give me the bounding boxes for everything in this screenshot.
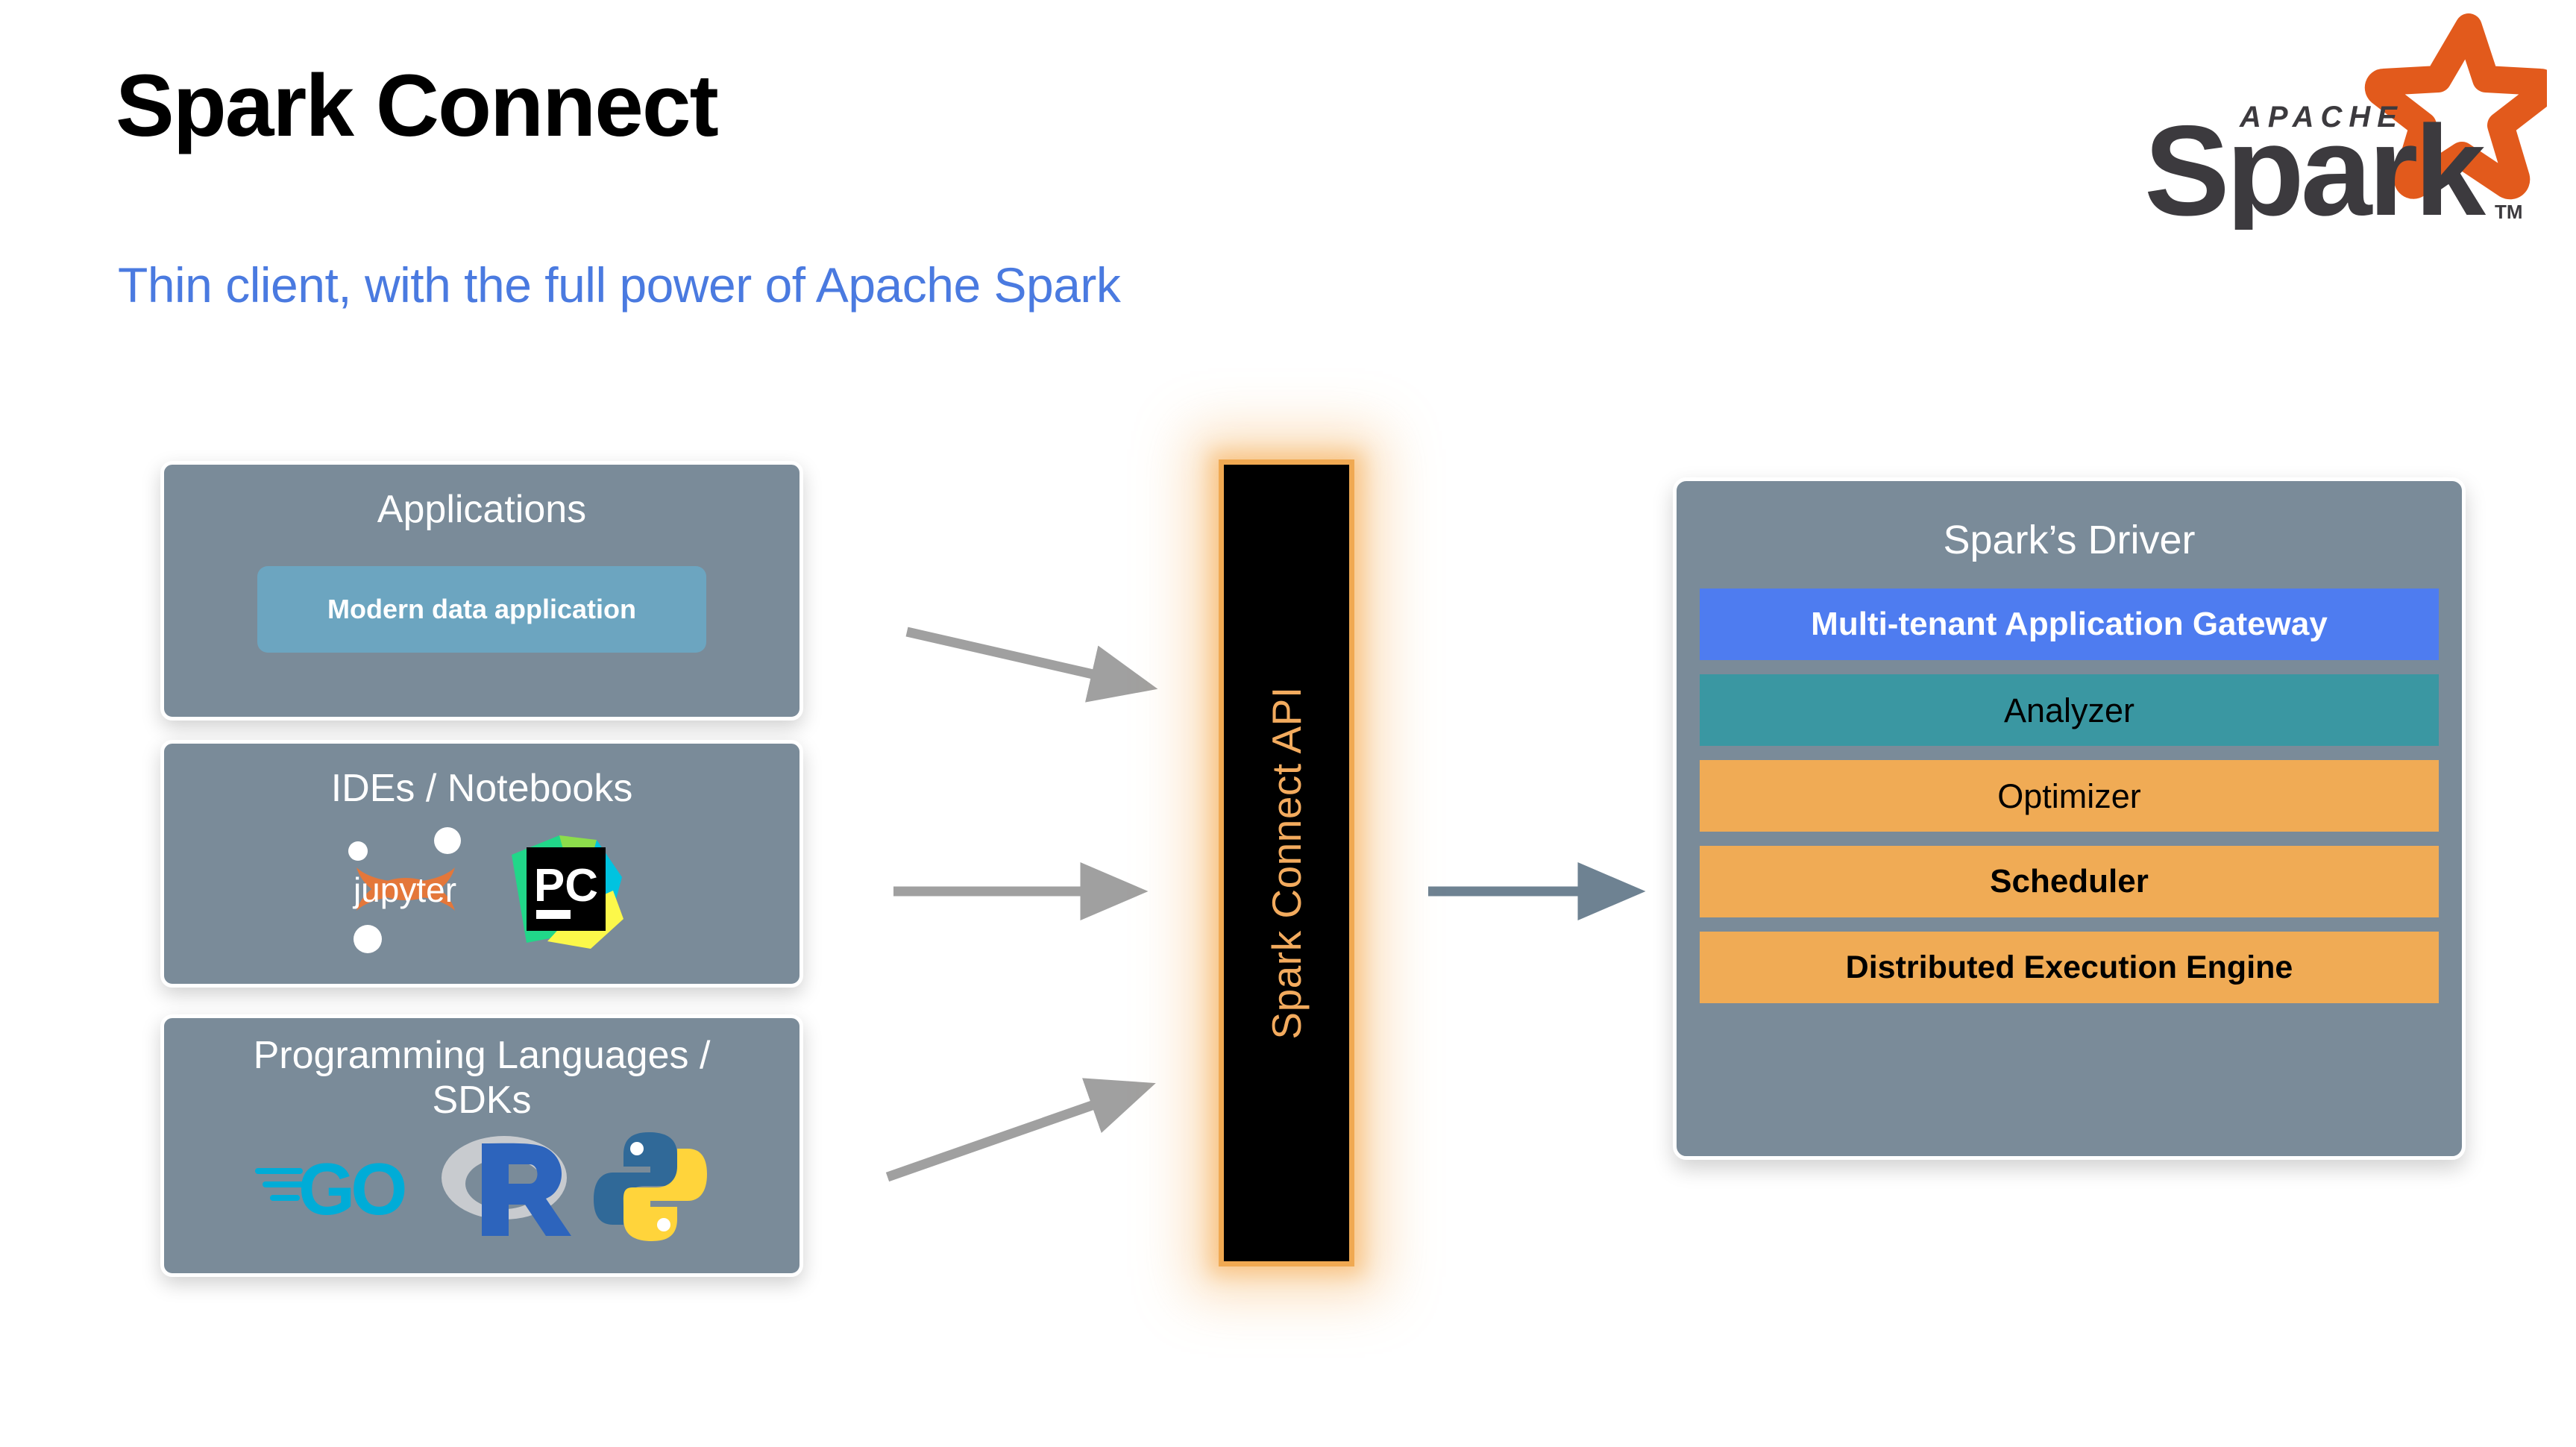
spark-connect-api-bar[interactable]: Spark Connect API (1219, 459, 1354, 1266)
client-box-title-line1: Programming Languages / (164, 1033, 799, 1078)
client-box-title: Programming Languages / SDKs (164, 1018, 799, 1123)
slide-root: Spark Connect Thin client, with the full… (0, 0, 2576, 1447)
page-title: Spark Connect (116, 58, 717, 155)
spark-connect-api-label: Spark Connect API (1263, 686, 1310, 1039)
python-logo (591, 1126, 710, 1251)
svg-text:Spark: Spark (2144, 99, 2486, 230)
client-box-programming-languages[interactable]: Programming Languages / SDKs GO (160, 1014, 803, 1277)
svg-text:TM: TM (2495, 201, 2523, 223)
svg-text:GO: GO (298, 1148, 405, 1230)
sparks-driver-box[interactable]: Spark’s Driver Multi-tenant Application … (1673, 477, 2466, 1160)
driver-band-engine[interactable]: Distributed Execution Engine (1700, 932, 2439, 1003)
client-box-applications[interactable]: Applications Modern data application (160, 461, 803, 721)
driver-title: Spark’s Driver (1677, 481, 2462, 563)
driver-band-optimizer[interactable]: Optimizer (1700, 760, 2439, 832)
client-box-title: Applications (164, 465, 799, 532)
apache-spark-logo: APACHE Spark TM (2129, 13, 2547, 230)
pycharm-logo: PC (501, 822, 629, 958)
driver-band-analyzer[interactable]: Analyzer (1700, 674, 2439, 746)
modern-data-application-chip[interactable]: Modern data application (257, 566, 706, 653)
client-box-title-line2: SDKs (164, 1078, 799, 1123)
svg-text:jupyter: jupyter (352, 870, 456, 909)
driver-band-list: Multi-tenant Application Gateway Analyze… (1677, 588, 2462, 1003)
arrow-applications-to-api (907, 632, 1096, 675)
language-logo-row: GO (164, 1126, 799, 1251)
go-logo: GO (254, 1138, 418, 1239)
driver-band-gateway[interactable]: Multi-tenant Application Gateway (1700, 588, 2439, 660)
driver-band-scheduler[interactable]: Scheduler (1700, 846, 2439, 917)
client-box-title: IDEs / Notebooks (164, 744, 799, 811)
ide-logo-row: jupyter PC (164, 821, 799, 959)
client-box-ides-notebooks[interactable]: IDEs / Notebooks jupyter (160, 740, 803, 988)
page-subtitle: Thin client, with the full power of Apac… (118, 257, 1120, 313)
jupyter-logo: jupyter (334, 821, 476, 959)
arrow-langs-to-api (888, 1104, 1096, 1177)
r-logo (437, 1127, 571, 1250)
svg-text:PC: PC (534, 860, 598, 911)
